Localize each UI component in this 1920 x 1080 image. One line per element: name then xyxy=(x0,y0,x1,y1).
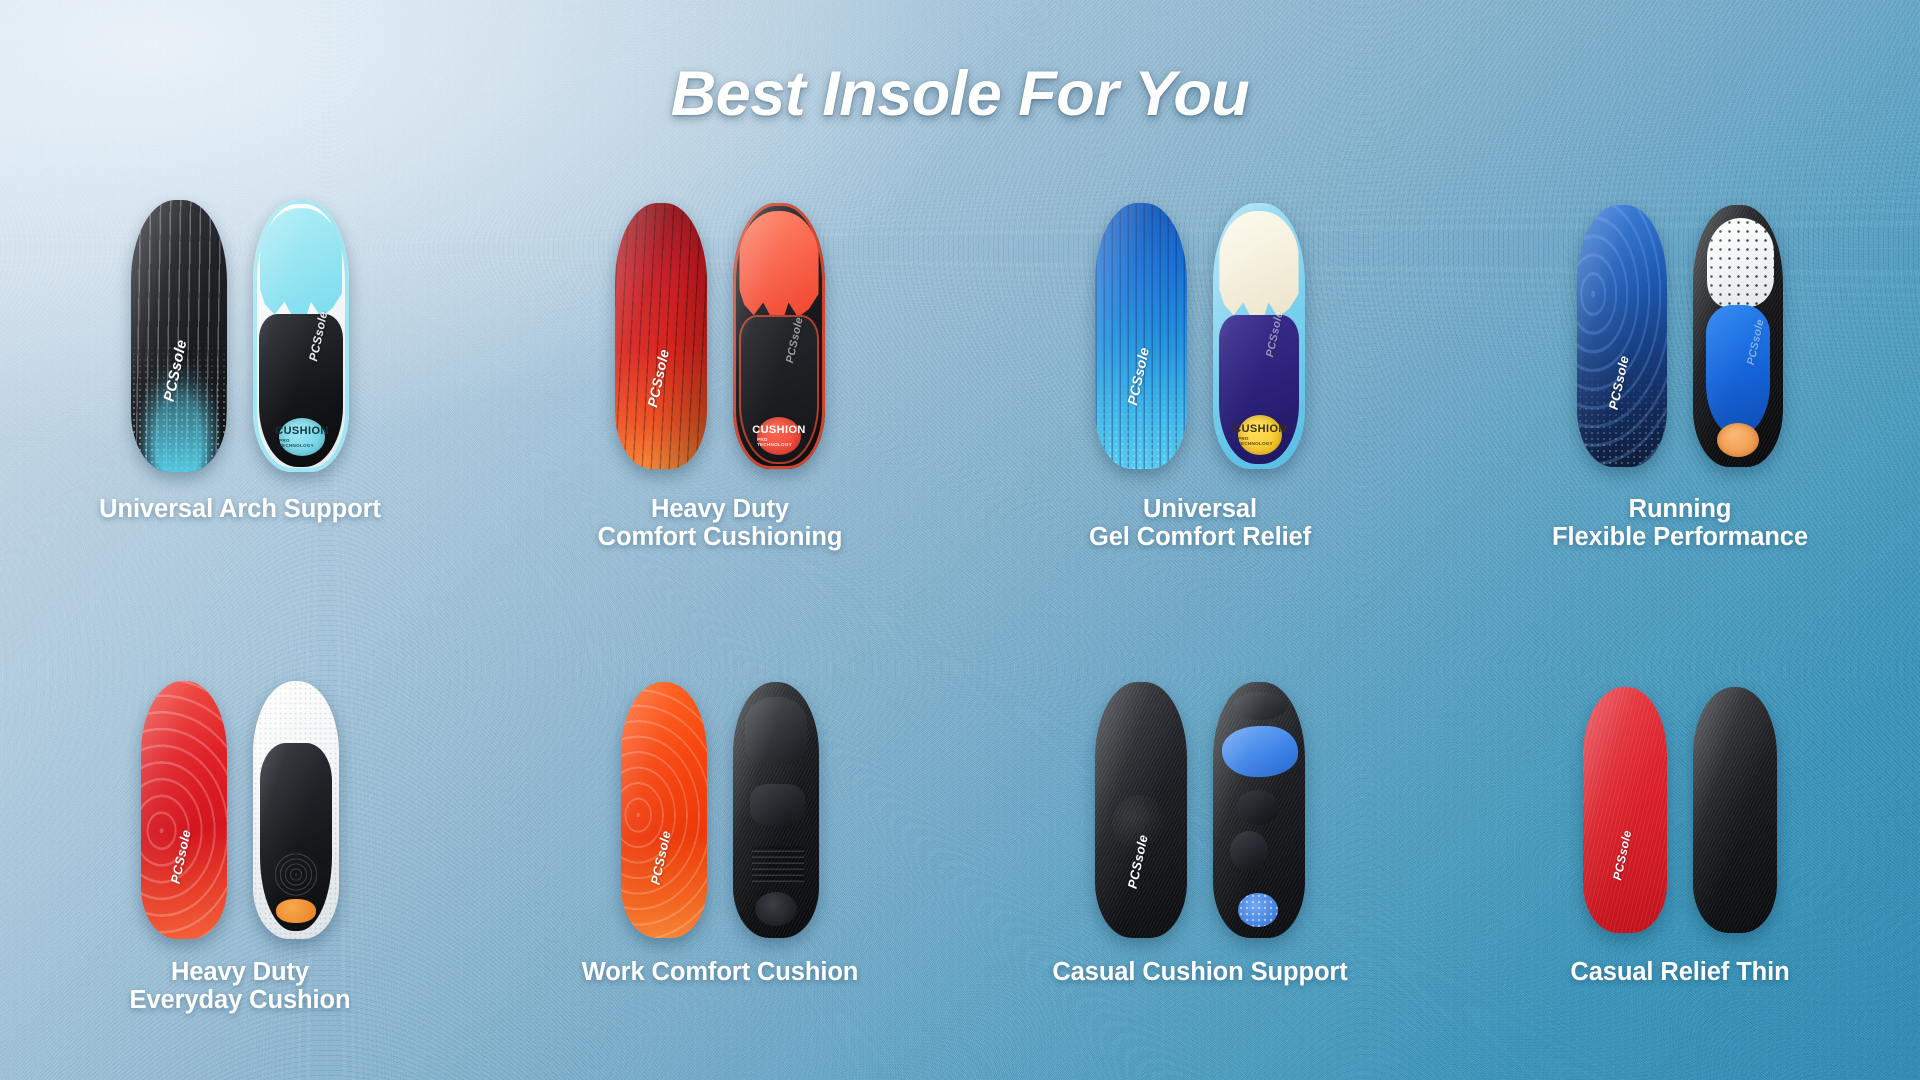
product-caption: Heavy Duty Everyday Cushion xyxy=(130,959,351,1014)
product-card-casual-relief-thin[interactable]: PCSsole Casual Relief Thin xyxy=(1440,675,1920,1014)
insole-top-view-heavy-duty-comfort-cushioning: PCSsole xyxy=(615,203,707,469)
insole-pair: PCSsole PCSsole CUSHION PRO TECHNOLOGY xyxy=(131,190,349,482)
insole-bottom-view-heavy-duty-everyday-cushion xyxy=(253,681,339,939)
product-caption: Universal Gel Comfort Relief xyxy=(1089,496,1311,551)
product-grid: PCSsole PCSsole CUSHION PRO TECHNOLOGY xyxy=(0,190,1920,1014)
insole-bottom-view-work-comfort-cushion xyxy=(733,682,819,938)
product-grid-row-1: PCSsole PCSsole CUSHION PRO TECHNOLOGY xyxy=(0,190,1920,551)
insole-pair: PCSsole PCSsole CUSHION PRO TECHNOLOGY xyxy=(615,190,825,482)
product-caption: Casual Cushion Support xyxy=(1052,959,1347,987)
insole-bottom-view-casual-relief-thin xyxy=(1693,687,1777,933)
insole-bottom-view-running-flexible-performance: PCSsole xyxy=(1693,205,1783,467)
product-card-heavy-duty-everyday-cushion[interactable]: PCSsole Heavy Duty Everyday Cushion xyxy=(0,675,480,1014)
product-grid-row-2: PCSsole Heavy Duty Everyday Cushion xyxy=(0,675,1920,1014)
insole-top-view-casual-cushion-support: PCSsole xyxy=(1095,682,1187,938)
insole-bottom-view-heavy-duty-comfort-cushioning: PCSsole CUSHION PRO TECHNOLOGY xyxy=(733,203,825,469)
product-caption: Universal Arch Support xyxy=(99,496,381,524)
product-caption: Running Flexible Performance xyxy=(1552,496,1808,551)
insole-top-view-casual-relief-thin: PCSsole xyxy=(1583,687,1667,933)
insole-pair: PCSsole PCSsole CUSHION PRO TECHNOLOGY xyxy=(1095,190,1305,482)
product-caption: Heavy Duty Comfort Cushioning xyxy=(598,496,843,551)
insole-top-view-universal-gel-comfort-relief: PCSsole xyxy=(1095,203,1187,469)
insole-pair: PCSsole xyxy=(141,675,339,945)
product-card-casual-cushion-support[interactable]: PCSsole Casual Cushion Support xyxy=(960,675,1440,1014)
insole-pair: PCSsole PCSsole xyxy=(1577,190,1783,482)
product-card-work-comfort-cushion[interactable]: PCSsole Work Comfort Cushion xyxy=(480,675,960,1014)
product-caption: Work Comfort Cushion xyxy=(582,959,859,987)
insole-pair: PCSsole xyxy=(1095,675,1305,945)
product-card-running-flexible-performance[interactable]: PCSsole PCSsole Running Flexible Perfor xyxy=(1440,190,1920,551)
page-title: Best Insole For You xyxy=(0,58,1920,130)
insole-top-view-work-comfort-cushion: PCSsole xyxy=(621,682,707,938)
insole-pair: PCSsole xyxy=(1583,675,1777,945)
product-card-universal-arch-support[interactable]: PCSsole PCSsole CUSHION PRO TECHNOLOGY xyxy=(0,190,480,551)
insole-bottom-view-universal-arch-support: PCSsole CUSHION PRO TECHNOLOGY xyxy=(253,200,349,472)
insole-top-view-heavy-duty-everyday-cushion: PCSsole xyxy=(141,681,227,939)
product-caption: Casual Relief Thin xyxy=(1570,959,1789,987)
insole-bottom-view-universal-gel-comfort-relief: PCSsole CUSHION PRO TECHNOLOGY xyxy=(1213,203,1305,469)
insole-bottom-view-casual-cushion-support xyxy=(1213,682,1305,938)
product-card-universal-gel-comfort-relief[interactable]: PCSsole PCSsole CUSHION PRO TECHNOLOGY xyxy=(960,190,1440,551)
product-card-heavy-duty-comfort-cushioning[interactable]: PCSsole PCSsole CUSHION PRO TECHNOLOGY xyxy=(480,190,960,551)
insole-top-view-universal-arch-support: PCSsole xyxy=(131,200,227,472)
insole-top-view-running-flexible-performance: PCSsole xyxy=(1577,205,1667,467)
insole-pair: PCSsole xyxy=(621,675,819,945)
